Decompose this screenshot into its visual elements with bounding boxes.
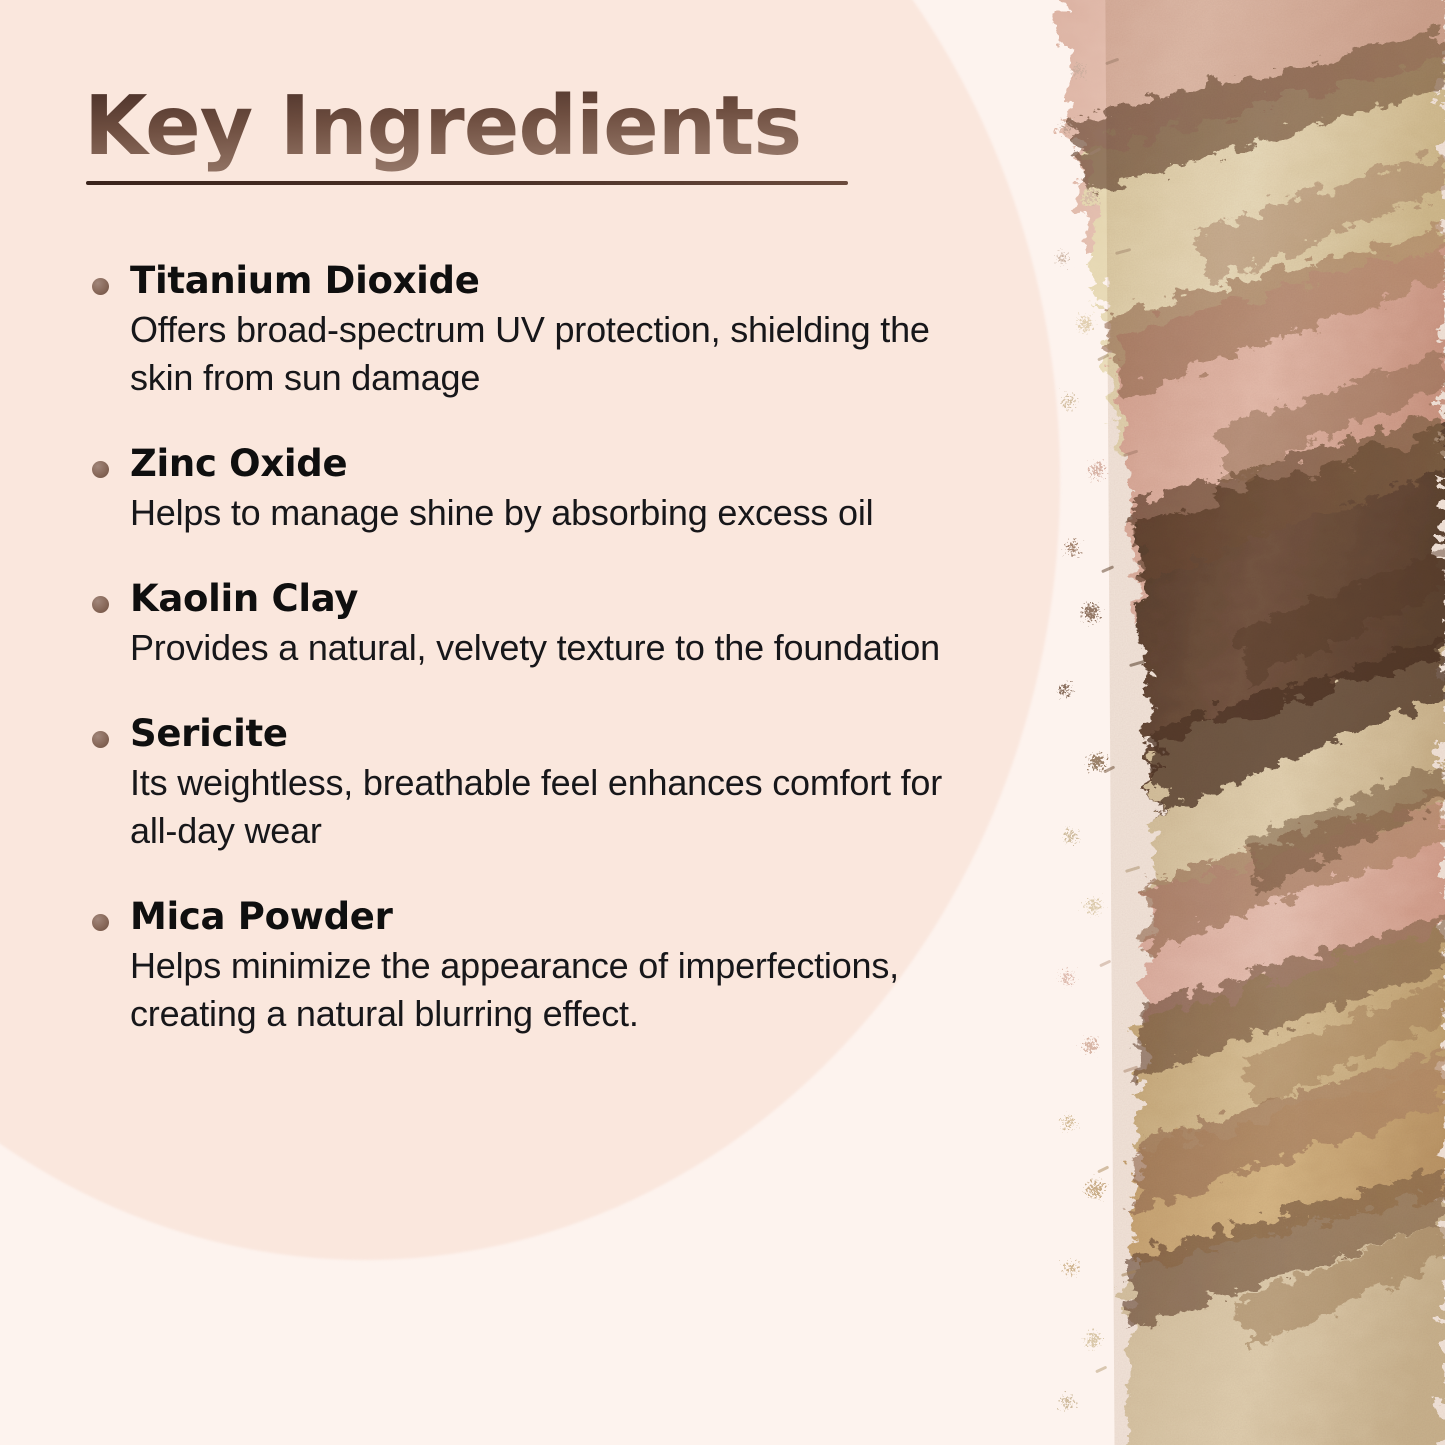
ingredient-description: Offers broad-spectrum UV protection, shi… — [130, 306, 960, 402]
ingredient-description: Helps minimize the appearance of imperfe… — [130, 942, 960, 1038]
ingredient-name: Titanium Dioxide — [130, 258, 1040, 303]
list-item: Titanium Dioxide Offers broad-spectrum U… — [84, 258, 1040, 402]
bullet-icon — [92, 278, 109, 295]
list-item: Sericite Its weightless, breathable feel… — [84, 711, 1040, 855]
powder-swatch-graphic — [1045, 0, 1445, 1445]
list-item: Kaolin Clay Provides a natural, velvety … — [84, 576, 1040, 672]
list-item: Mica Powder Helps minimize the appearanc… — [84, 894, 1040, 1038]
bullet-icon — [92, 596, 109, 613]
ingredient-description: Helps to manage shine by absorbing exces… — [130, 489, 960, 537]
powder-bands — [1055, 0, 1445, 1445]
bullet-icon — [92, 461, 109, 478]
page-title: Key Ingredients — [84, 86, 801, 174]
poster-canvas: Key Ingredients Titanium Dioxide Offers … — [0, 0, 1445, 1445]
ingredient-description: Provides a natural, velvety texture to t… — [130, 624, 960, 672]
ingredient-name: Mica Powder — [130, 894, 1040, 939]
bullet-icon — [92, 731, 109, 748]
ingredient-name: Zinc Oxide — [130, 441, 1040, 486]
page-title-wrapper: Key Ingredients — [84, 86, 801, 174]
ingredient-list: Titanium Dioxide Offers broad-spectrum U… — [84, 258, 1040, 1038]
page-title-underline — [86, 181, 848, 185]
powder-swatch-image — [1045, 0, 1445, 1445]
bullet-icon — [92, 914, 109, 931]
ingredient-name: Kaolin Clay — [130, 576, 1040, 621]
ingredient-name: Sericite — [130, 711, 1040, 756]
list-item: Zinc Oxide Helps to manage shine by abso… — [84, 441, 1040, 537]
ingredient-description: Its weightless, breathable feel enhances… — [130, 759, 960, 855]
content-column: Key Ingredients Titanium Dioxide Offers … — [0, 0, 1080, 1445]
